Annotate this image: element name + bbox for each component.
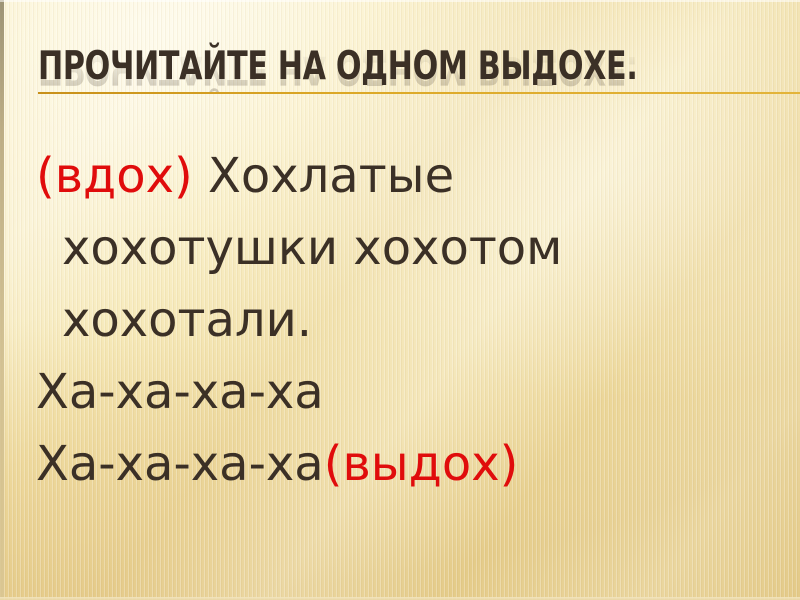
body-text-segment: Ха-ха-ха-ха <box>36 364 324 420</box>
body-line: хохотали. <box>36 284 782 356</box>
body-text-segment: хохотали. <box>62 292 312 348</box>
body-line: хохотушки хохотом <box>36 212 782 284</box>
slide-canvas: ПРОЧИТАЙТЕ НА ОДНОМ ВЫДОХЕ. ПРОЧИТАЙТЕ Н… <box>0 0 800 600</box>
body-line: Ха-ха-ха-ха <box>36 356 782 428</box>
body-text-segment: хохотушки хохотом <box>62 220 562 276</box>
body-text-segment: Ха-ха-ха-ха <box>36 436 324 492</box>
breath-cue-accent: (выдох) <box>324 436 519 492</box>
body-text-segment: Хохлатые <box>193 148 454 204</box>
body-line: Ха-ха-ха-ха(выдох) <box>36 428 782 500</box>
body-text-block: (вдох) Хохлатыехохотушки хохотомхохотали… <box>36 140 782 500</box>
slide-top-edge <box>0 0 800 2</box>
body-line: (вдох) Хохлатые <box>36 140 782 212</box>
breath-cue-accent: (вдох) <box>36 148 193 204</box>
title-zone: ПРОЧИТАЙТЕ НА ОДНОМ ВЫДОХЕ. ПРОЧИТАЙТЕ Н… <box>0 44 800 100</box>
title-underline-rule <box>38 92 800 94</box>
page-title: ПРОЧИТАЙТЕ НА ОДНОМ ВЫДОХЕ. <box>38 44 637 90</box>
